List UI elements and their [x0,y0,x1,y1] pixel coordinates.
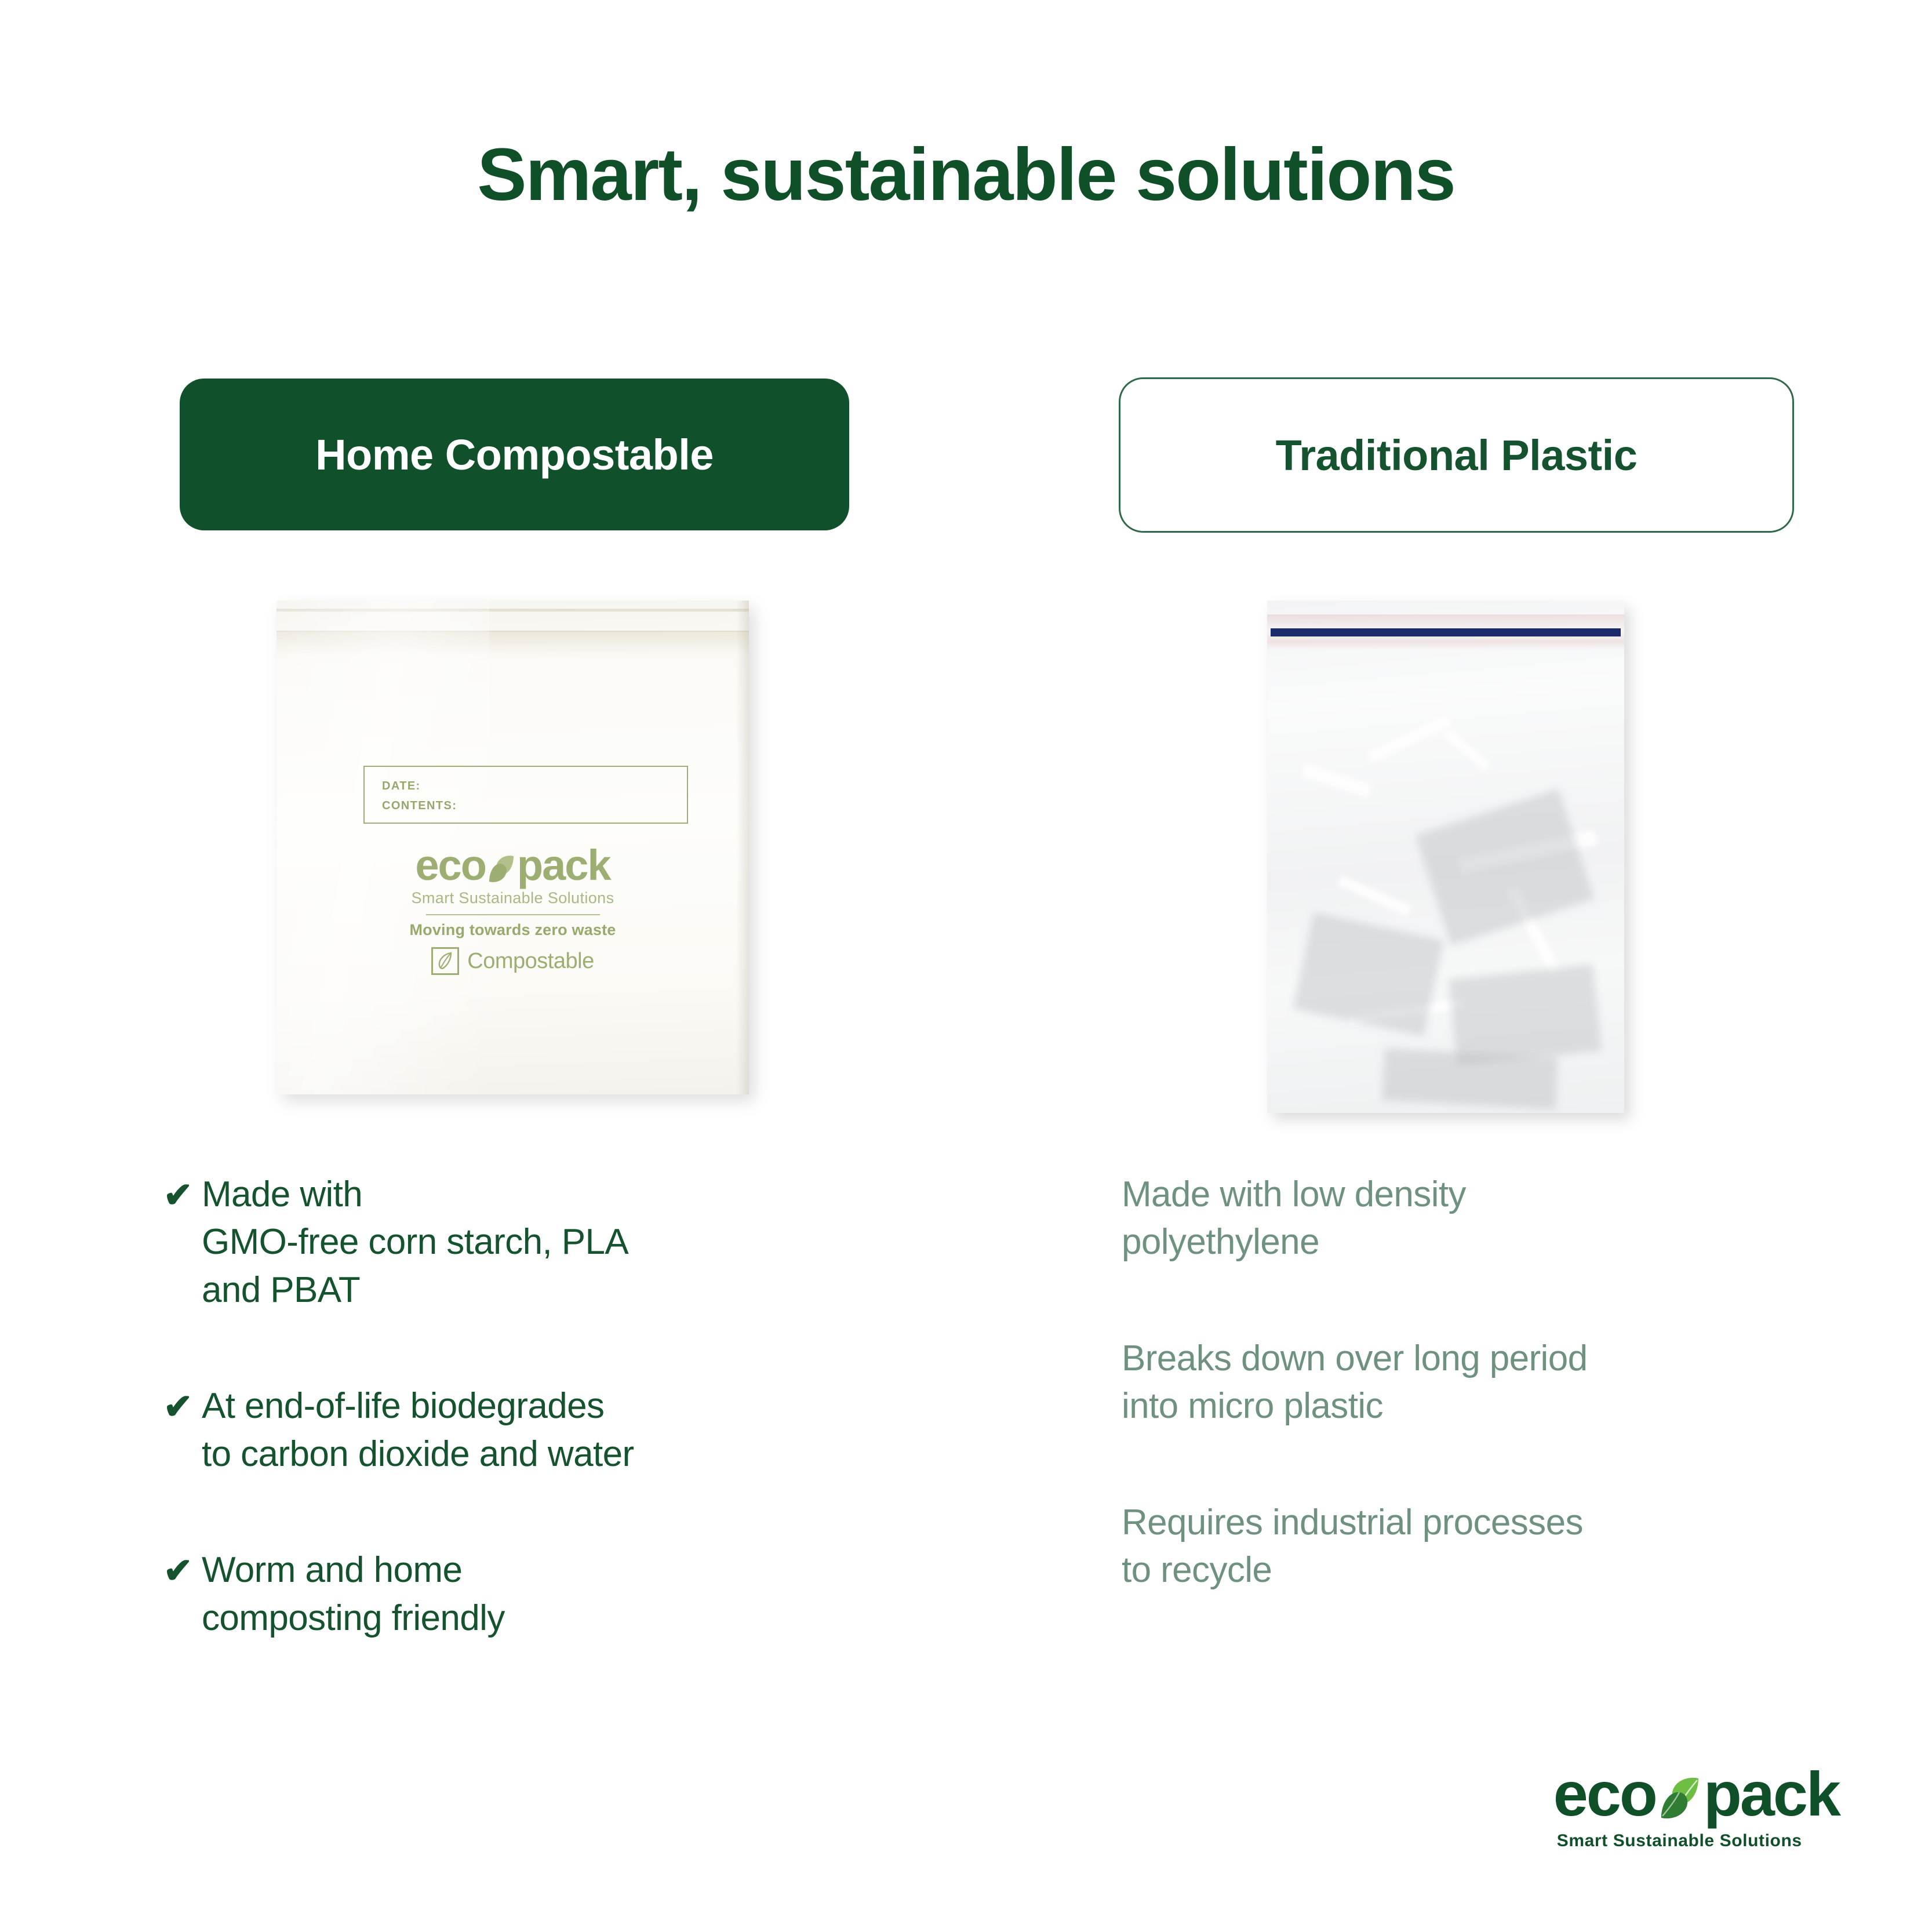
bag-divider [426,914,600,915]
bag-ecopack-logo: eco pack [276,844,749,887]
plastic-drawback-list: Made with low density polyethylene Break… [1122,1171,1846,1595]
list-item-text: At end-of-life biodegrades to carbon dio… [202,1382,634,1478]
footer-logo-tagline: Smart Sustainable Solutions [1557,1831,1839,1851]
bag-write-on-panel: DATE: CONTENTS: [363,766,688,824]
bag-date-label: DATE: [382,780,421,793]
bag-zip-strip [1271,628,1621,636]
list-item-text: Breaks down over long period into micro … [1122,1335,1846,1431]
compostable-feature-list: ✔ Made with GMO-free corn starch, PLA an… [163,1171,859,1642]
compostable-bag-image: DATE: CONTENTS: eco pack Smart Sustainab… [276,601,749,1094]
leaf-mark-icon [486,849,516,882]
footer-logo-eco: eco [1553,1763,1656,1825]
list-item: ✔ At end-of-life biodegrades to carbon d… [163,1382,859,1478]
list-item-text: Made with low density polyethylene [1122,1171,1846,1267]
bag-logo-eco: eco [415,844,486,887]
ecopack-footer-logo: eco pack Smart Sustainable Solutions [1553,1763,1839,1851]
pill-label-left: Home Compostable [315,430,714,479]
check-icon: ✔ [163,1171,202,1314]
list-item: ✔ Worm and home composting friendly [163,1547,859,1642]
bag-wrinkle [1302,764,1372,798]
list-item-text: Worm and home composting friendly [202,1547,505,1642]
bag-wrinkle [1338,875,1411,915]
bag-logo-pack: pack [517,844,610,887]
footer-logo-wordmark: eco pack [1553,1763,1839,1825]
list-item-text: Requires industrial processes to recycle [1122,1499,1846,1595]
check-icon: ✔ [163,1547,202,1642]
check-icon: ✔ [163,1382,202,1478]
bag-fold-edge [276,609,749,612]
pill-label-right: Traditional Plastic [1276,431,1638,480]
traditional-plastic-bag-image [1267,601,1624,1113]
bag-shade [1415,789,1594,946]
bag-shade [1382,1048,1558,1109]
bag-zero-waste-text: Moving towards zero waste [276,921,749,939]
bag-printed-branding: eco pack Smart Sustainable Solutions Mov… [276,844,749,975]
bag-compostable-badge: Compostable [276,947,749,975]
leaf-mark-icon [1657,1770,1702,1818]
bag-compostable-word: Compostable [467,949,594,974]
page-title: Smart, sustainable solutions [0,134,1932,216]
list-item: ✔ Made with GMO-free corn starch, PLA an… [163,1171,859,1314]
footer-logo-pack: pack [1704,1763,1839,1825]
compostable-leaf-icon [431,947,459,975]
bag-shade [1293,912,1444,1036]
bag-wrinkle [1368,715,1451,763]
bag-logo-tagline: Smart Sustainable Solutions [276,889,749,907]
bag-wrinkle [1444,730,1490,770]
bag-contents-label: CONTENTS: [382,799,457,813]
bag-shade [1449,964,1602,1065]
tab-traditional-plastic[interactable]: Traditional Plastic [1119,377,1794,533]
list-item-text: Made with GMO-free corn starch, PLA and … [202,1171,628,1314]
tab-home-compostable[interactable]: Home Compostable [180,379,849,530]
bag-seal-fold [276,631,749,655]
